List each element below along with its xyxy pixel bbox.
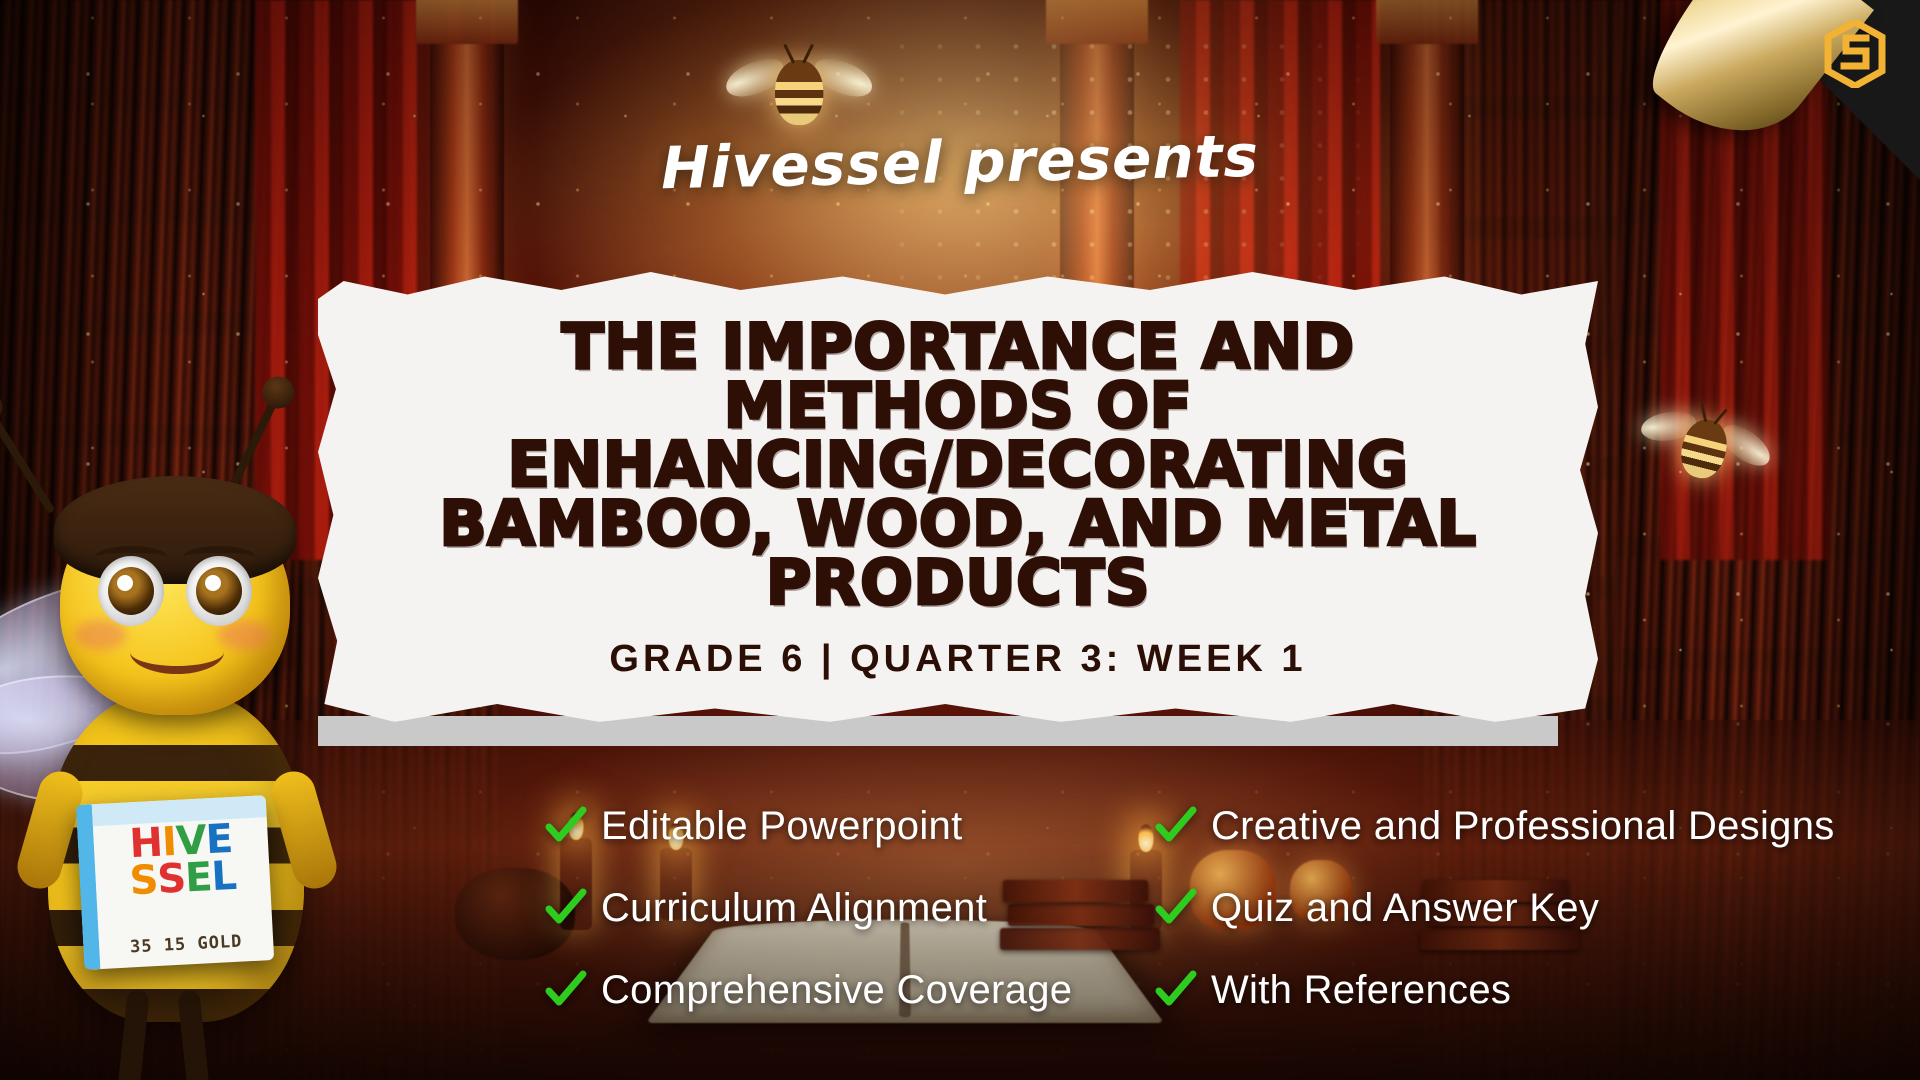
feature-list: Editable Powerpoint Creative and Profess…	[545, 790, 1885, 1026]
list-item: Creative and Professional Designs	[1155, 790, 1885, 862]
corner-page-fold	[1740, 0, 1920, 180]
card-shadow-band	[318, 716, 1558, 746]
title-card: THE IMPORTANCE AND METHODS OF ENHANCING/…	[318, 272, 1598, 722]
book-cover-subtitle: 35 15 GOLD	[99, 930, 274, 959]
check-icon	[545, 805, 587, 847]
slide-canvas: Hivessel presents THE IMPORTANCE AND MET…	[0, 0, 1920, 1080]
page-subtitle: GRADE 6 | QUARTER 3: WEEK 1	[609, 638, 1306, 681]
mascot-lash-left	[95, 546, 167, 568]
hivessel-hex-logo-icon	[1824, 20, 1886, 88]
book-title-line2: SSEL	[95, 856, 271, 902]
mascot-lash-right	[183, 546, 255, 568]
bee-mascot: HIVE SSEL 35 15 GOLD	[0, 470, 440, 1080]
check-icon	[1155, 805, 1197, 847]
check-icon	[545, 887, 587, 929]
mascot-blush-left	[74, 620, 126, 650]
book-cover-title: HIVE SSEL	[93, 819, 271, 902]
list-item-label: With References	[1211, 968, 1511, 1013]
list-item-label: Curriculum Alignment	[601, 886, 987, 931]
mascot-hair	[54, 476, 296, 584]
mascot-smile	[130, 630, 224, 674]
check-icon	[1155, 887, 1197, 929]
page-title: THE IMPORTANCE AND METHODS OF ENHANCING/…	[398, 318, 1518, 612]
mascot-held-book: HIVE SSEL 35 15 GOLD	[76, 795, 274, 970]
list-item-label: Editable Powerpoint	[601, 804, 962, 849]
list-item: Comprehensive Coverage	[545, 954, 1155, 1026]
list-item-label: Quiz and Answer Key	[1211, 886, 1599, 931]
list-item: Quiz and Answer Key	[1155, 872, 1885, 944]
list-item-label: Creative and Professional Designs	[1211, 804, 1835, 849]
list-item: Editable Powerpoint	[545, 790, 1155, 862]
list-item-label: Comprehensive Coverage	[601, 968, 1072, 1013]
list-item: Curriculum Alignment	[545, 872, 1155, 944]
list-item: With References	[1155, 954, 1885, 1026]
check-icon	[1155, 969, 1197, 1011]
check-icon	[545, 969, 587, 1011]
